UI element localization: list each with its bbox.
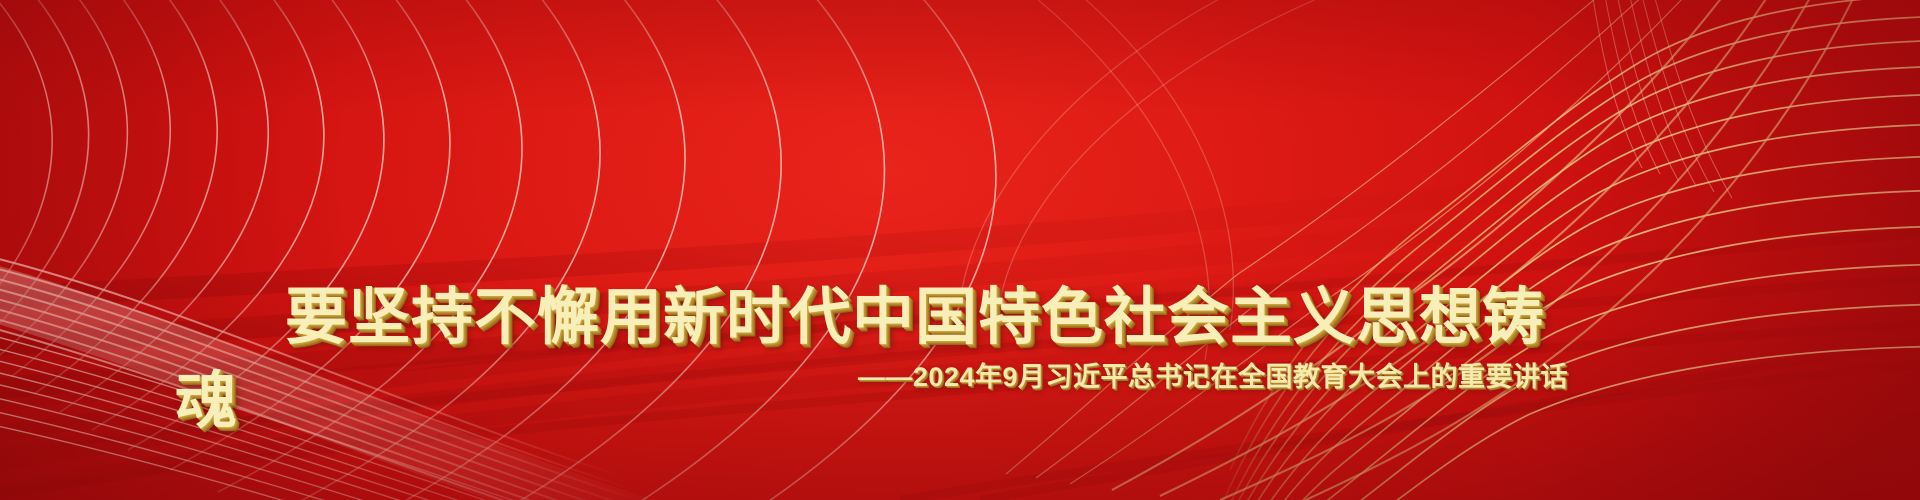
banner-content: 要坚持不懈用新时代中国特色社会主义思想铸魂 育人，实施新时代立德树人工程。 ——… <box>0 0 1920 500</box>
headline-quote: 要坚持不懈用新时代中国特色社会主义思想铸魂 育人，实施新时代立德树人工程。 <box>175 108 1595 500</box>
red-propaganda-banner: 要坚持不懈用新时代中国特色社会主义思想铸魂 育人，实施新时代立德树人工程。 ——… <box>0 0 1920 500</box>
quote-attribution: ——2024年9月习近平总书记在全国教育大会上的重要讲话 <box>858 355 1568 394</box>
